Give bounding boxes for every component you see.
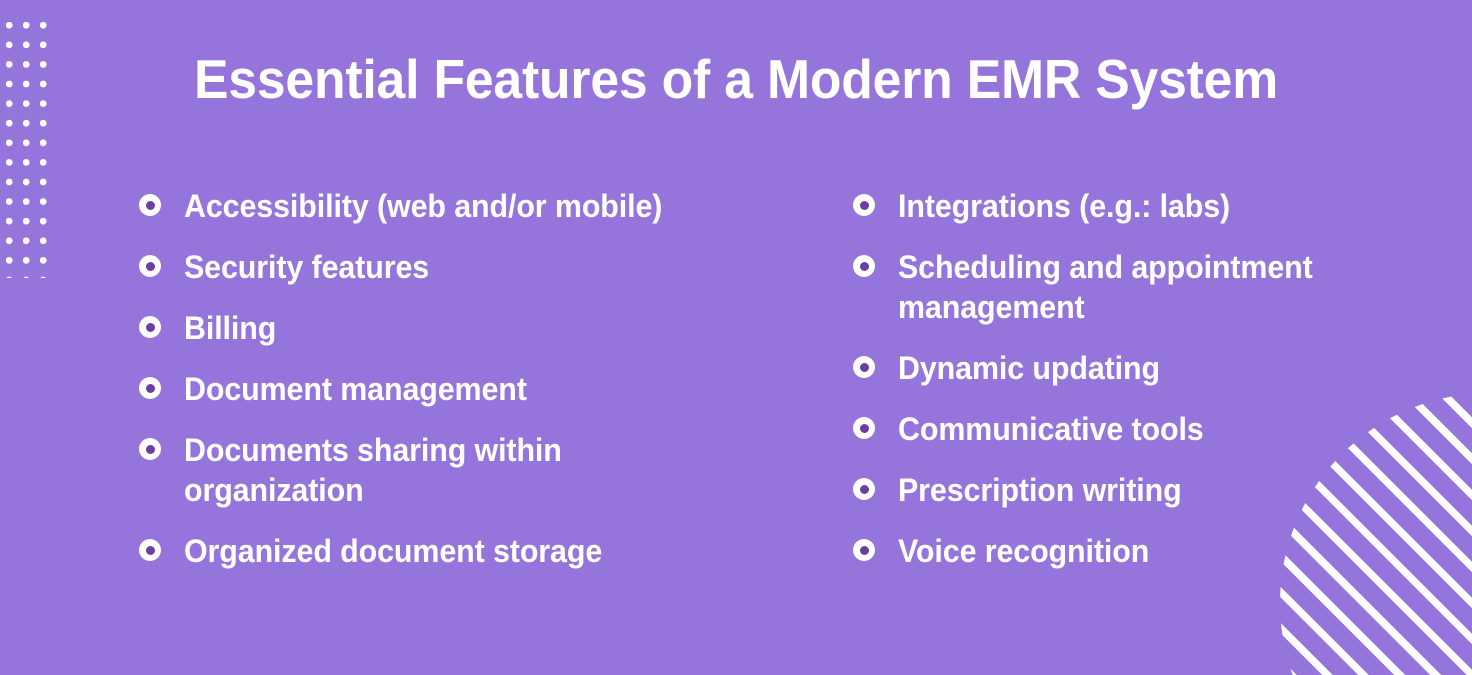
- feature-column-right: Integrations (e.g.: labs) Scheduling and…: [853, 186, 1398, 592]
- bullet-ring-icon: [139, 194, 161, 216]
- list-item-label: Voice recognition: [898, 531, 1149, 571]
- list-item-label: Document management: [184, 369, 527, 409]
- list-item-label: Accessibility (web and/or mobile): [184, 186, 662, 226]
- bullet-ring-icon: [853, 539, 875, 561]
- bullet-ring-icon: [139, 316, 161, 338]
- list-item-label: Integrations (e.g.: labs): [898, 186, 1230, 226]
- list-item: Scheduling and appointment management: [853, 247, 1398, 327]
- bullet-ring-icon: [853, 255, 875, 277]
- bullet-ring-icon: [139, 377, 161, 399]
- list-item: Prescription writing: [853, 470, 1398, 510]
- list-item: Documents sharing within organization: [139, 430, 779, 510]
- list-item-label: Organized document storage: [184, 531, 602, 571]
- list-item: Organized document storage: [139, 531, 779, 571]
- list-item: Security features: [139, 247, 779, 287]
- bullet-ring-icon: [139, 539, 161, 561]
- list-item: Dynamic updating: [853, 348, 1398, 388]
- feature-column-left: Accessibility (web and/or mobile) Securi…: [139, 186, 779, 592]
- list-item: Integrations (e.g.: labs): [853, 186, 1398, 226]
- list-item-label: Billing: [184, 308, 276, 348]
- list-item: Voice recognition: [853, 531, 1398, 571]
- list-item: Communicative tools: [853, 409, 1398, 449]
- list-item-label: Prescription writing: [898, 470, 1182, 510]
- slide-canvas: Essential Features of a Modern EMR Syste…: [0, 0, 1472, 675]
- list-item-label: Communicative tools: [898, 409, 1204, 449]
- list-item-label: Scheduling and appointment management: [898, 247, 1349, 327]
- list-item-label: Documents sharing within organization: [184, 430, 583, 510]
- list-item-label: Security features: [184, 247, 429, 287]
- page-title: Essential Features of a Modern EMR Syste…: [44, 48, 1428, 110]
- list-item: Accessibility (web and/or mobile): [139, 186, 779, 226]
- bullet-ring-icon: [853, 417, 875, 439]
- feature-columns: Accessibility (web and/or mobile) Securi…: [0, 186, 1472, 606]
- bullet-ring-icon: [139, 438, 161, 460]
- bullet-ring-icon: [853, 194, 875, 216]
- bullet-ring-icon: [853, 478, 875, 500]
- list-item: Document management: [139, 369, 779, 409]
- bullet-ring-icon: [853, 356, 875, 378]
- list-item-label: Dynamic updating: [898, 348, 1160, 388]
- bullet-ring-icon: [139, 255, 161, 277]
- list-item: Billing: [139, 308, 779, 348]
